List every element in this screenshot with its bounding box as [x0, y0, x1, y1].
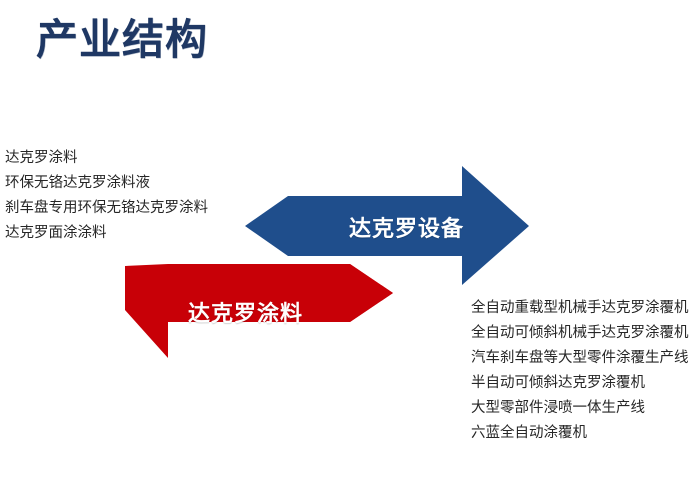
left-text-line: 环保无铬达克罗涂料液 [5, 171, 208, 196]
left-text-line: 刹车盘专用环保无铬达克罗涂料 [5, 196, 208, 221]
right-text-block: 全自动重载型机械手达克罗涂覆机 全自动可倾斜机械手达克罗涂覆机 汽车刹车盘等大型… [471, 296, 689, 446]
blue-arrow-label: 达克罗设备 [349, 211, 464, 243]
right-text-line: 汽车刹车盘等大型零件涂覆生产线 [471, 346, 689, 371]
right-text-line: 半自动可倾斜达克罗涂覆机 [471, 371, 689, 396]
left-text-line: 达克罗面涂涂料 [5, 221, 208, 246]
left-text-line: 达克罗涂料 [5, 146, 208, 171]
slide-canvas: 产业结构 达克罗设备 达克罗涂料 达克罗涂料 环保无铬达克罗涂料液 刹车盘专用环… [0, 0, 700, 501]
right-text-line: 大型零部件浸喷一体生产线 [471, 396, 689, 421]
left-text-block: 达克罗涂料 环保无铬达克罗涂料液 刹车盘专用环保无铬达克罗涂料 达克罗面涂涂料 [5, 146, 208, 246]
red-arrow-label: 达克罗涂料 [188, 296, 303, 328]
right-text-line: 六蓝全自动涂覆机 [471, 421, 689, 446]
right-text-line: 全自动可倾斜机械手达克罗涂覆机 [471, 321, 689, 346]
right-text-line: 全自动重载型机械手达克罗涂覆机 [471, 296, 689, 321]
